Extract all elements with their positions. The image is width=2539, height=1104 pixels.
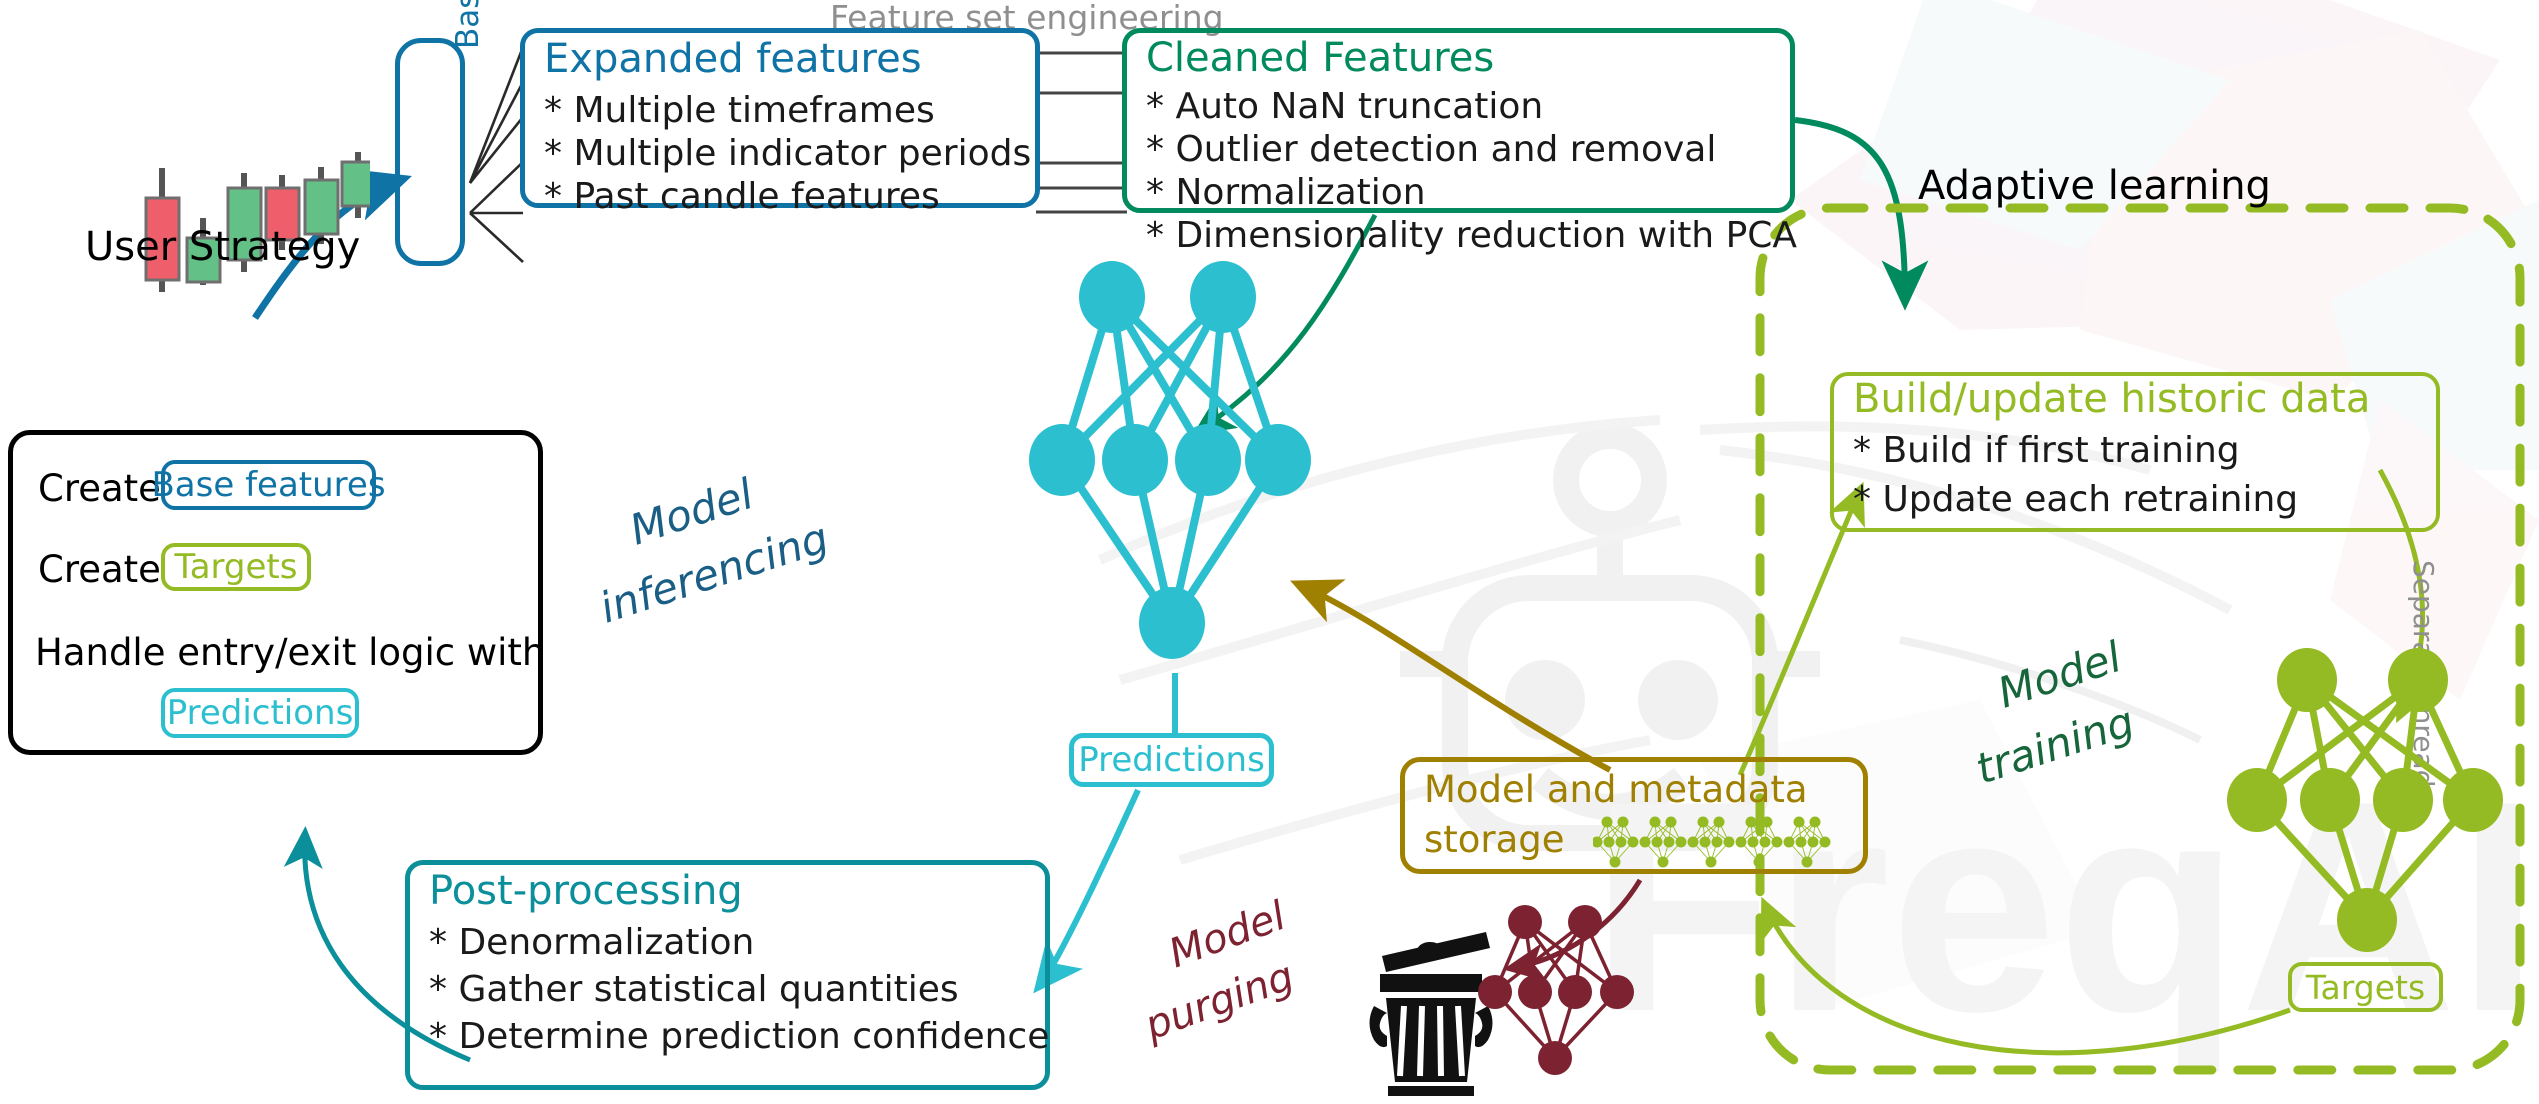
diagram-canvas: FreqAI <box>0 0 2539 1104</box>
post-processing-bullet-1: * Gather statistical quantities <box>429 968 959 1012</box>
model-storage-line1: Model and metadata <box>1424 768 1808 811</box>
cleaned-features-title: Cleaned Features <box>1146 37 1494 79</box>
expanded-features-box[interactable]: Expanded features * Multiple timeframes … <box>520 28 1040 208</box>
build-update-title: Build/update historic data <box>1853 378 2370 420</box>
model-training-line2: training <box>1970 697 2140 794</box>
expanded-features-title: Expanded features <box>544 38 922 80</box>
post-processing-box[interactable]: Post-processing * Denormalization * Gath… <box>405 860 1050 1090</box>
model-storage-line2: storage <box>1424 818 1565 861</box>
post-processing-bullet-0: * Denormalization <box>429 921 754 965</box>
model-inferencing-line2: inferencing <box>594 513 834 633</box>
post-processing-bullet-2: * Determine prediction confidence <box>429 1015 1049 1059</box>
build-update-box[interactable]: Build/update historic data * Build if fi… <box>1830 372 2440 532</box>
base-features-label: Base features <box>450 0 486 49</box>
expanded-features-bullet-1: * Multiple indicator periods <box>544 132 1031 176</box>
predictions-pill-inference-label: Predictions <box>1078 740 1265 780</box>
user-strategy-line1-prefix: Create <box>38 467 161 510</box>
adaptive-learning-heading: Adaptive learning <box>1918 163 2271 209</box>
model-storage-box[interactable]: Model and metadata storage <box>1400 757 1868 874</box>
post-processing-title: Post-processing <box>429 870 743 912</box>
user-strategy-line2-prefix: Create <box>38 548 161 591</box>
base-features-box[interactable]: Base features <box>395 38 465 266</box>
base-features-pill-label: Base features <box>151 465 385 505</box>
cleaned-features-bullet-1: * Outlier detection and removal <box>1146 128 1716 172</box>
expanded-features-bullet-0: * Multiple timeframes <box>544 89 935 133</box>
cleaned-features-bullet-0: * Auto NaN truncation <box>1146 85 1543 129</box>
expanded-features-bullet-2: * Past candle features <box>544 175 940 219</box>
predictions-pill-strategy[interactable]: Predictions <box>161 688 359 738</box>
cleaned-features-bullet-3: * Dimensionality reduction with PCA <box>1146 214 1797 258</box>
predictions-pill-strategy-label: Predictions <box>167 693 354 733</box>
model-inferencing-label: Model inferencing <box>612 500 942 650</box>
cleaned-features-bullet-2: * Normalization <box>1146 171 1426 215</box>
user-strategy-line3: Handle entry/exit logic with <box>35 631 545 674</box>
base-features-pill[interactable]: Base features <box>161 460 376 510</box>
targets-pill-training[interactable]: Targets <box>2288 962 2443 1012</box>
neural-network-icon-purged <box>1475 900 1655 1090</box>
targets-pill-training-label: Targets <box>2306 968 2425 1007</box>
targets-pill-strategy-label: Targets <box>175 547 298 587</box>
mini-network-row <box>1593 814 1843 870</box>
targets-pill-strategy[interactable]: Targets <box>161 543 311 591</box>
inference-to-predictions-stem <box>1160 673 1190 743</box>
build-update-bullet-1: * Update each retraining <box>1853 478 2298 522</box>
cleaned-features-box[interactable]: Cleaned Features * Auto NaN truncation *… <box>1122 28 1795 213</box>
user-strategy-box[interactable]: Create Base features Create Targets Hand… <box>8 430 543 755</box>
neural-network-icon-inference <box>1020 255 1320 675</box>
build-update-bullet-0: * Build if first training <box>1853 429 2240 473</box>
neural-network-icon-training <box>2215 648 2515 958</box>
model-purging-line2: purging <box>1139 953 1300 1049</box>
user-strategy-heading: User Strategy <box>85 224 360 270</box>
